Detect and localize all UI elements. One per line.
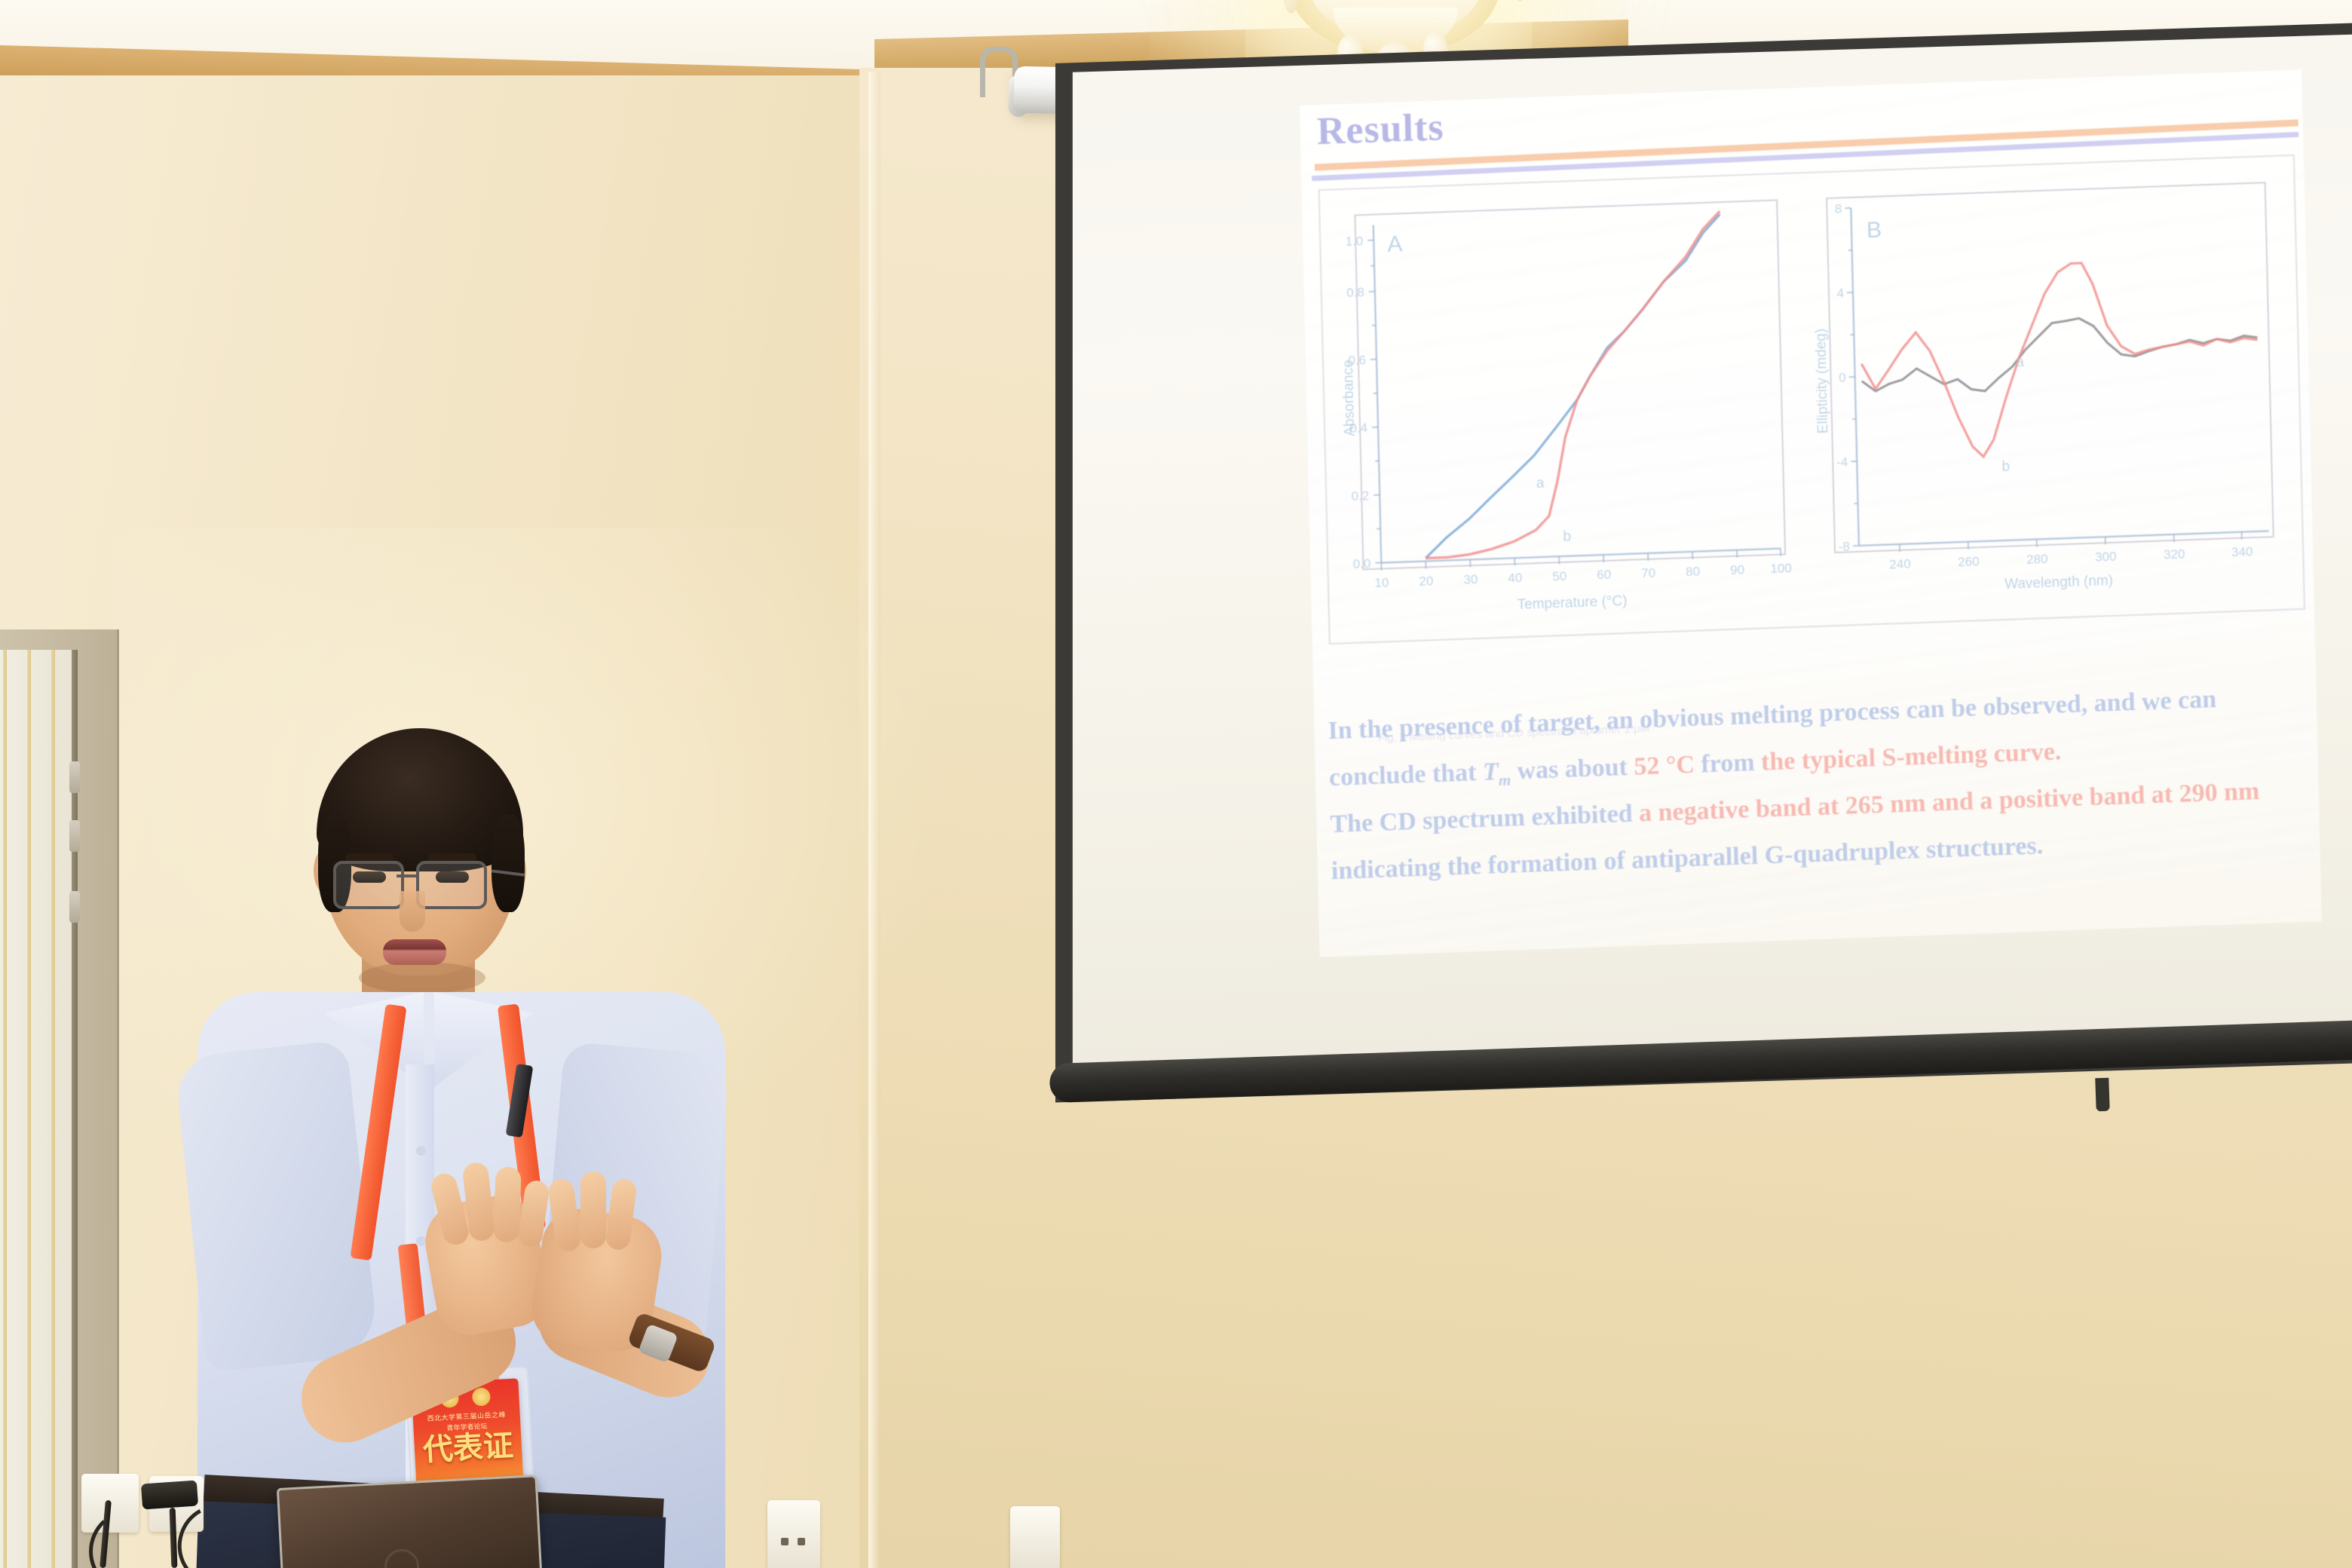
- power-plug: [141, 1480, 198, 1509]
- figure-container: A 0.00.2 0.40.6 0.81.0: [1318, 155, 2305, 645]
- body-seg-temp: 52 °C: [1634, 751, 1695, 781]
- svg-text:-8: -8: [1839, 539, 1851, 554]
- door-hinge: [69, 820, 80, 852]
- svg-text:100: 100: [1770, 561, 1792, 576]
- slide-title: Results: [1316, 105, 1444, 154]
- series-b-label: b: [2001, 459, 2010, 475]
- panel-a-ylabel: Absorbance: [1340, 360, 1358, 436]
- svg-text:20: 20: [1419, 574, 1433, 589]
- series-a-label: a: [1536, 476, 1545, 492]
- svg-text:0.2: 0.2: [1351, 488, 1369, 504]
- body-seg: from: [1695, 749, 1762, 779]
- door-stripe: [3, 650, 7, 1568]
- svg-text:240: 240: [1889, 556, 1911, 571]
- hair-side-right: [492, 814, 525, 912]
- badge-emblem-right: [472, 1387, 491, 1406]
- outlet-hole: [798, 1538, 805, 1545]
- svg-text:260: 260: [1958, 554, 1980, 569]
- svg-text:320: 320: [2164, 547, 2185, 562]
- chart-panel-a: A 0.00.2 0.40.6 0.81.0: [1337, 194, 1799, 623]
- svg-text:30: 30: [1463, 572, 1478, 587]
- eyeglasses-lens-right: [416, 861, 487, 909]
- svg-text:10: 10: [1374, 575, 1389, 590]
- svg-text:4: 4: [1836, 286, 1844, 300]
- svg-text:340: 340: [2231, 544, 2253, 559]
- crystal-pendant: [1505, 0, 1527, 2]
- panel-b-ylabel: Ellipticity (mdeg): [1813, 328, 1831, 433]
- body-seg: The CD spectrum exhibited: [1330, 799, 1640, 838]
- shirt-button: [416, 1236, 426, 1246]
- svg-text:90: 90: [1730, 562, 1744, 577]
- svg-text:1.0: 1.0: [1345, 234, 1363, 249]
- door-hinge: [69, 761, 80, 793]
- wall-switch[interactable]: [1010, 1506, 1060, 1568]
- door-glass-panel[interactable]: [0, 650, 74, 1568]
- presenter: 西北大学第三届山岳之峰 青年学者论坛 代表证 主办：西北大学: [211, 724, 694, 1568]
- svg-text:60: 60: [1597, 568, 1611, 583]
- body-seg: the typical S-melting curve.: [1761, 737, 2062, 776]
- presentation-room-photo: Results A: [0, 0, 2352, 1568]
- finger: [493, 1166, 521, 1242]
- series-b-curve: [1859, 257, 2260, 461]
- door-stripe: [51, 650, 55, 1568]
- outlet-hole: [781, 1538, 789, 1545]
- series-a-curve: [1860, 312, 2259, 396]
- shirt-button: [416, 1146, 426, 1156]
- door-stripe: [27, 650, 31, 1568]
- eyeglasses-bridge: [397, 874, 416, 877]
- svg-text:50: 50: [1552, 569, 1566, 584]
- screen-hook: [2095, 1078, 2109, 1112]
- badge-main-text: 代表证: [414, 1429, 522, 1467]
- svg-text:70: 70: [1641, 566, 1655, 581]
- svg-text:0.0: 0.0: [1352, 556, 1370, 571]
- projected-slide: Results A: [1300, 69, 2322, 957]
- sleeve-left: [174, 1040, 380, 1373]
- svg-text:280: 280: [2026, 552, 2048, 567]
- panel-b-xlabel: Wavelength (nm): [2004, 573, 2113, 593]
- svg-text:-4: -4: [1836, 455, 1848, 470]
- body-seg: was about: [1511, 753, 1634, 786]
- chin-shadow: [359, 962, 485, 994]
- series-b-label: b: [1563, 528, 1571, 544]
- eyeglasses-lens-left: [333, 861, 404, 909]
- door-hinge: [69, 891, 80, 923]
- panel-b-label: B: [1867, 217, 1882, 243]
- nose: [400, 891, 425, 932]
- svg-text:80: 80: [1686, 564, 1700, 579]
- svg-text:40: 40: [1508, 571, 1522, 586]
- svg-text:0: 0: [1839, 370, 1846, 384]
- finger: [580, 1171, 606, 1248]
- series-a-curve: [1418, 214, 1728, 558]
- wall-outlet-right[interactable]: [767, 1500, 820, 1568]
- slide-body-text: In the presence of target, an obvious me…: [1328, 673, 2311, 895]
- panel-a-xlabel: Temperature (°C): [1517, 593, 1627, 613]
- body-seg-tm: T: [1482, 758, 1499, 786]
- mouth: [383, 939, 446, 965]
- body-seg: conclude that: [1329, 758, 1484, 792]
- chart-panel-b: B -8-4 04 8: [1808, 176, 2286, 606]
- series-b-curve: [1418, 211, 1728, 558]
- panel-a-label: A: [1387, 231, 1403, 257]
- svg-text:8: 8: [1835, 201, 1842, 216]
- svg-text:0.8: 0.8: [1346, 285, 1364, 300]
- series-a-label: a: [2016, 354, 2024, 370]
- body-seg-sub: m: [1499, 770, 1511, 789]
- svg-text:300: 300: [2095, 550, 2117, 565]
